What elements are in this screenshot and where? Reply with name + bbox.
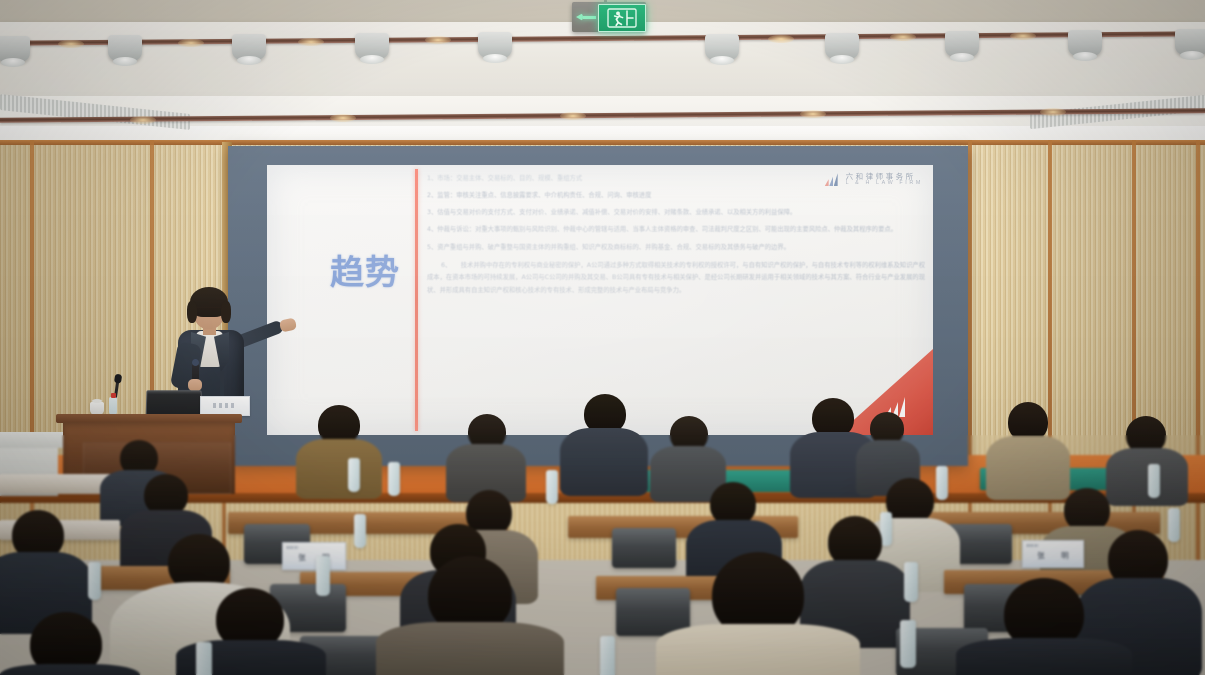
slide-divider-rule	[415, 169, 418, 431]
conference-room-scene: 趋势 六和律师事务所 L & H LAW FIRM 1、市场：交易主体、交易标的…	[0, 0, 1205, 675]
slide-line: 2、监管：审核关注重点、信息披露要求、中介机构责任、合规、问询、审核进度	[427, 190, 925, 202]
water-bottle	[109, 397, 117, 415]
ceiling-spotlight	[705, 34, 739, 60]
water-bottle	[88, 562, 101, 600]
slide-line: 6、 技术并购中存在的专利权与商业秘密的保护，A公司通过多种方式取得相关技术的专…	[427, 260, 925, 297]
desk-name-card: 张 明	[1022, 540, 1084, 568]
glasses-icon	[197, 307, 221, 313]
audience-member-foreground	[656, 552, 860, 675]
water-bottle	[900, 620, 916, 668]
audience-torso	[656, 624, 860, 675]
water-bottle	[348, 458, 360, 492]
ceiling-spotlight	[232, 34, 266, 60]
presenter-lanyard	[220, 371, 224, 397]
slide-title: 趋势	[329, 253, 401, 294]
audience-member	[986, 402, 1070, 498]
slide-line: 4、仲裁与诉讼：对重大事项的甄别与风险识别、仲裁中心的管辖与适用、当事人主体资格…	[427, 224, 925, 236]
slide-line: 1、市场：交易主体、交易标的、目的、规模、重组方式	[427, 173, 925, 185]
spotlight-glow	[330, 114, 356, 122]
side-table-top	[0, 432, 64, 448]
water-bottle	[354, 514, 366, 548]
water-bottle	[546, 470, 558, 504]
audience-member	[296, 405, 382, 495]
namecard-name: 张 明	[1023, 550, 1083, 561]
exit-pictogram-panel	[598, 4, 646, 32]
audience-torso	[956, 638, 1132, 675]
audience-member-foreground	[956, 578, 1132, 675]
spotlight-glow	[58, 40, 84, 48]
audience-torso	[296, 439, 382, 499]
audience-member-foreground	[376, 556, 564, 675]
slide-body-text: 1、市场：交易主体、交易标的、目的、规模、重组方式 2、监管：审核关注重点、信息…	[427, 173, 925, 303]
audience-torso	[376, 622, 564, 675]
namecard-logo-icon	[1027, 544, 1038, 547]
spotlight-glow	[890, 33, 916, 41]
slide-line: 3、估值与交易对价的支付方式、支付对价、业绩承诺、减值补偿、交易对价的安排、对赌…	[427, 207, 925, 219]
ceiling-spotlight	[1175, 29, 1205, 55]
spotlight-glow	[1040, 108, 1066, 116]
wall-top-trim	[0, 140, 1205, 145]
water-bottle	[904, 562, 918, 602]
ceiling-spotlight	[1068, 30, 1102, 56]
water-bottle	[196, 642, 212, 675]
ceiling-spotlight	[108, 35, 142, 61]
slide-line: 5、资产重组与并购、破产重整与国资主体的并购重组、知识产权及商标标的、并购基金、…	[427, 242, 925, 254]
running-person-icon	[607, 8, 637, 28]
audience-member-foreground	[0, 612, 140, 675]
podium-nameplate	[200, 396, 250, 416]
spotlight-glow	[768, 35, 794, 43]
audience-member	[560, 394, 648, 494]
spotlight-glow	[800, 110, 826, 118]
water-bottle	[388, 462, 400, 496]
presenter-left-hand	[188, 379, 202, 391]
spotlight-glow	[178, 39, 204, 47]
ceiling-spotlight	[0, 36, 30, 62]
desk-name-card: 张 明	[282, 542, 346, 570]
spotlight-glow	[130, 116, 156, 124]
namecard-name: 张 明	[283, 552, 345, 563]
arrow-left-icon	[576, 13, 596, 22]
spotlight-glow	[1010, 32, 1036, 40]
spotlight-glow	[298, 38, 324, 46]
ceiling-spotlight	[825, 33, 859, 59]
audience-torso	[0, 664, 140, 675]
water-bottle	[600, 636, 615, 675]
audience-member	[446, 414, 526, 499]
spotlight-glow	[560, 112, 586, 120]
water-bottle	[1148, 464, 1160, 498]
ceiling-spotlight	[945, 31, 979, 57]
ceiling-spotlight	[355, 33, 389, 59]
ceiling-spotlight	[478, 32, 512, 58]
spotlight-glow	[425, 36, 451, 44]
emergency-exit-sign	[572, 2, 646, 32]
audience-torso	[560, 428, 648, 496]
